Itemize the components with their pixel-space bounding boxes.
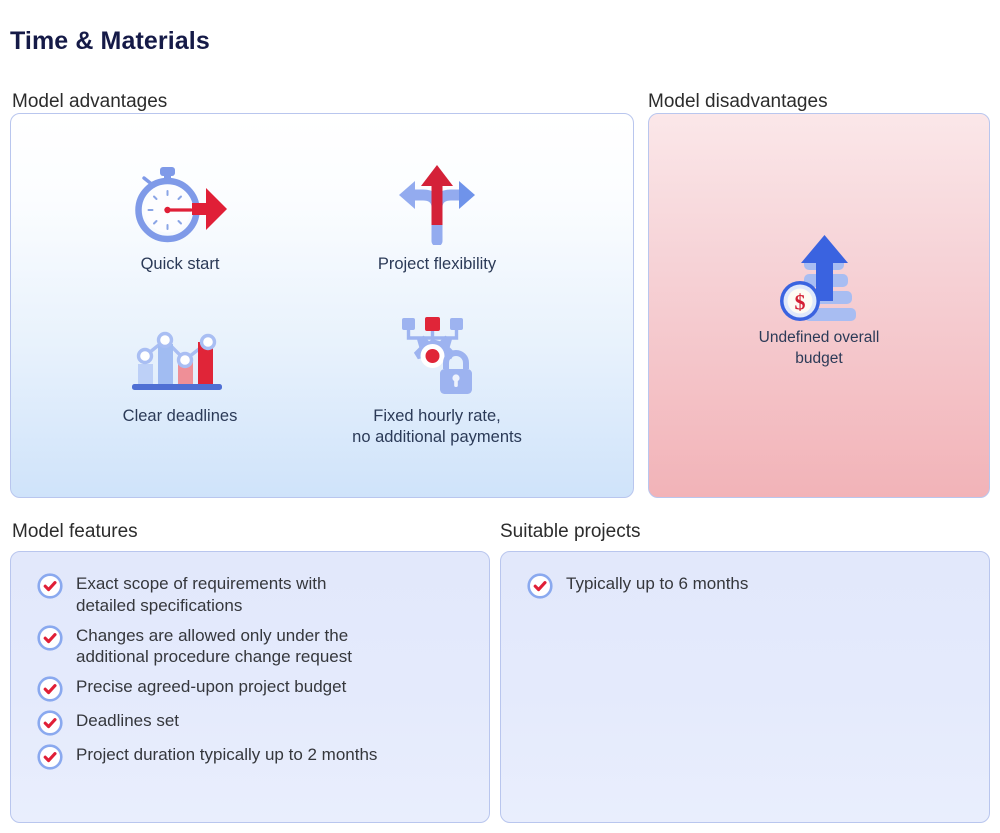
page-title: Time & Materials	[10, 27, 210, 56]
check-circle-icon	[37, 573, 63, 599]
disadvantage-label: Undefined overall budget	[694, 328, 944, 370]
features-list: Exact scope of requirements with detaile…	[11, 552, 489, 777]
feature-list-item: Deadlines set	[37, 709, 467, 736]
advantage-item: Fixed hourly rate, no additional payment…	[312, 312, 562, 449]
disadvantage-item: $ Undefined overall budget	[694, 232, 944, 370]
suitable-projects-panel: Typically up to 6 months	[500, 551, 990, 823]
bar-chart-line-icon	[55, 312, 305, 400]
feature-list-item-label: Project duration typically up to 2 month…	[76, 743, 377, 766]
advantage-item: Clear deadlines	[55, 312, 305, 427]
feature-list-item: Exact scope of requirements with detaile…	[37, 572, 467, 617]
svg-text:$: $	[795, 290, 806, 315]
heading-model-advantages: Model advantages	[12, 91, 167, 113]
heading-model-disadvantages: Model disadvantages	[648, 91, 828, 113]
suitable-list-item-label: Typically up to 6 months	[566, 572, 748, 595]
check-circle-icon	[37, 744, 63, 770]
gear-lock-icon	[312, 312, 562, 400]
advantage-item: Quick start	[55, 160, 305, 275]
infographic-page: Time & Materials Model advantages Model …	[0, 0, 1000, 833]
feature-list-item-label: Changes are allowed only under the addit…	[76, 624, 352, 669]
feature-list-item-label: Precise agreed-upon project budget	[76, 675, 346, 698]
feature-list-item: Project duration typically up to 2 month…	[37, 743, 467, 770]
rising-budget-coin-icon: $	[694, 232, 944, 324]
stopwatch-arrow-icon	[55, 160, 305, 248]
suitable-projects-list: Typically up to 6 months	[501, 552, 989, 606]
check-circle-icon	[527, 573, 553, 599]
three-way-arrow-icon	[312, 160, 562, 248]
advantage-item: Project flexibility	[312, 160, 562, 275]
heading-model-features: Model features	[12, 521, 138, 543]
advantage-label: Quick start	[55, 254, 305, 275]
check-circle-icon	[37, 710, 63, 736]
check-circle-icon	[37, 625, 63, 651]
suitable-list-item: Typically up to 6 months	[527, 572, 967, 599]
advantage-label: Project flexibility	[312, 254, 562, 275]
feature-list-item: Changes are allowed only under the addit…	[37, 624, 467, 669]
feature-list-item-label: Deadlines set	[76, 709, 179, 732]
advantage-label: Clear deadlines	[55, 406, 305, 427]
features-panel: Exact scope of requirements with detaile…	[10, 551, 490, 823]
check-circle-icon	[37, 676, 63, 702]
advantage-label: Fixed hourly rate, no additional payment…	[312, 406, 562, 449]
feature-list-item-label: Exact scope of requirements with detaile…	[76, 572, 326, 617]
feature-list-item: Precise agreed-upon project budget	[37, 675, 467, 702]
heading-suitable-projects: Suitable projects	[500, 521, 640, 543]
